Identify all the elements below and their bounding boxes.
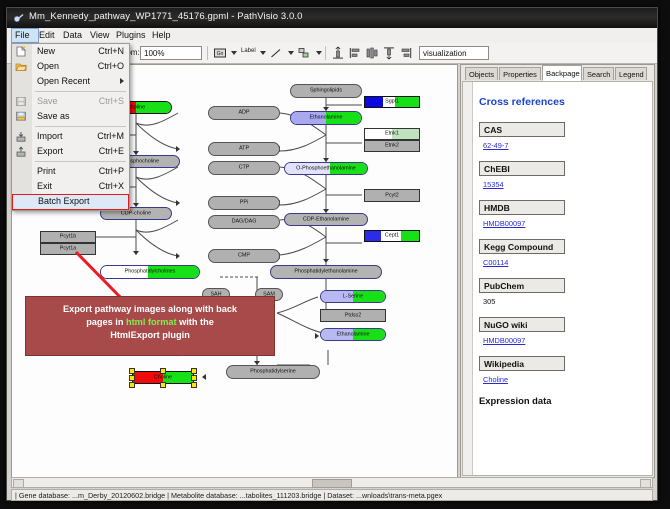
- menu-item-save-label: Save: [37, 96, 58, 106]
- node-ppi[interactable]: PPi: [208, 196, 280, 210]
- scroll-left-button[interactable]: [13, 479, 24, 488]
- scroll-thumb[interactable]: [312, 479, 352, 488]
- menu-item-exit-label: Exit: [37, 181, 52, 191]
- menu-item-export-label: Export: [37, 146, 63, 156]
- menu-item-exit[interactable]: Exit Ctrl+X: [12, 179, 129, 194]
- node-ptdss2[interactable]: Ptdss2: [320, 309, 386, 322]
- arrow-icon: [315, 333, 319, 339]
- align-left-icon[interactable]: [348, 46, 362, 60]
- backpage-content: Cross references CAS 62-49-7 ChEBI 15354…: [473, 82, 652, 475]
- xref-value-hmdb[interactable]: HMDB00097: [483, 219, 646, 228]
- new-file-icon: [15, 46, 27, 57]
- node-sphingolipids[interactable]: Sphingolipids: [290, 84, 362, 98]
- node-atp[interactable]: ATP: [208, 142, 280, 156]
- title-bar: Mm_Kennedy_pathway_WP1771_45176.gpml - P…: [7, 8, 657, 29]
- application-window: Mm_Kennedy_pathway_WP1771_45176.gpml - P…: [6, 7, 658, 501]
- side-panel: Objects Properties Backpage Search Legen…: [460, 64, 655, 478]
- xref-value-kegg-compound[interactable]: C00114: [483, 258, 646, 267]
- import-icon: [15, 131, 27, 142]
- menu-item-batch-export[interactable]: Batch Export: [12, 194, 129, 210]
- expression-data-heading: Expression data: [479, 395, 646, 406]
- tab-objects[interactable]: Objects: [465, 67, 498, 80]
- menu-item-exit-accel: Ctrl+X: [99, 179, 124, 194]
- node-ethanolamine-top[interactable]: Ethanolamine: [290, 111, 362, 125]
- label-tool-label[interactable]: Label: [241, 48, 256, 54]
- menu-item-save-accel: Ctrl+S: [99, 94, 124, 109]
- save-disk-icon: [15, 96, 27, 107]
- resize-handle[interactable]: [129, 382, 135, 388]
- node-etnk2[interactable]: Etnk2: [364, 140, 420, 152]
- shape-tool-icon[interactable]: [297, 46, 311, 60]
- menu-item-open-recent-label: Open Recent: [37, 76, 90, 86]
- xref-name-kegg-compound: Kegg Compound: [479, 239, 565, 254]
- arrow-icon: [176, 146, 180, 152]
- arrow-icon: [176, 200, 180, 206]
- geneproduct-tool-icon[interactable]: Gn: [213, 46, 227, 60]
- menu-item-export-accel: Ctrl+E: [99, 144, 124, 159]
- align-horizontal-center-icon[interactable]: [365, 46, 379, 60]
- menu-edit[interactable]: Edit: [35, 29, 59, 42]
- menu-item-batch-export-label: Batch Export: [38, 196, 90, 206]
- node-ethanolamine-bottom[interactable]: Ethanolamine: [320, 328, 386, 341]
- annotation-line3: HtmlExport plugin: [110, 330, 190, 340]
- menu-item-import-accel: Ctrl+M: [97, 129, 124, 144]
- menu-separator: [35, 161, 126, 162]
- resize-handle[interactable]: [160, 382, 166, 388]
- menu-separator: [35, 91, 126, 92]
- menu-view[interactable]: View: [86, 29, 113, 42]
- node-pcyt2[interactable]: Pcyt2: [364, 189, 420, 202]
- shape-dropdown-icon[interactable]: [316, 51, 322, 55]
- xref-value-nugo-wiki[interactable]: HMDB00097: [483, 336, 646, 345]
- tab-legend[interactable]: Legend: [615, 67, 647, 80]
- menu-item-open-label: Open: [37, 61, 59, 71]
- menu-bar: File Edit Data View Plugins Help: [7, 28, 657, 44]
- resize-handle[interactable]: [129, 368, 135, 374]
- annotation-line2-post: with the: [177, 317, 214, 327]
- menu-item-print[interactable]: Print Ctrl+P: [12, 164, 129, 179]
- resize-handle[interactable]: [191, 368, 197, 374]
- menu-item-open[interactable]: Open Ctrl+O: [12, 59, 129, 74]
- menu-item-new-label: New: [37, 46, 55, 56]
- menu-item-save-as-label: Save as: [37, 111, 70, 121]
- node-etnk1[interactable]: Etnk1: [364, 128, 420, 140]
- xref-name-hmdb: HMDB: [479, 200, 565, 215]
- export-icon: [15, 146, 27, 157]
- xref-value-pubchem: 305: [483, 297, 646, 306]
- menu-help[interactable]: Help: [148, 29, 175, 42]
- xref-name-pubchem: PubChem: [479, 278, 565, 293]
- xref-name-wikipedia: Wikipedia: [479, 356, 565, 371]
- node-ctp[interactable]: CTP: [208, 161, 280, 175]
- line-dropdown-icon[interactable]: [288, 51, 294, 55]
- node-o-phosphoethanolamine[interactable]: O-Phosphoethanolamine: [284, 162, 368, 175]
- node-pcyt1b[interactable]: Pcyt1b: [40, 231, 96, 243]
- window-title: Mm_Kennedy_pathway_WP1771_45176.gpml - P…: [29, 11, 303, 22]
- horizontal-scrollbar[interactable]: [11, 477, 653, 488]
- tab-properties[interactable]: Properties: [499, 67, 541, 80]
- screenshot-root: Mm_Kennedy_pathway_WP1771_45176.gpml - P…: [0, 0, 670, 509]
- menu-item-print-accel: Ctrl+P: [99, 164, 124, 179]
- xref-name-chebi: ChEBI: [479, 161, 565, 176]
- open-folder-icon: [15, 61, 27, 72]
- node-cdp-ethanolamine[interactable]: CDP-Ethanolamine: [284, 213, 368, 226]
- status-bar-text: | Gene database: ...m_Derby_20120602.bri…: [15, 491, 442, 500]
- node-cept1[interactable]: Cept1: [364, 230, 420, 242]
- save-as-icon: [15, 111, 27, 122]
- node-adp[interactable]: ADP: [208, 106, 280, 120]
- menu-item-save: Save Ctrl+S: [12, 94, 129, 109]
- line-tool-icon[interactable]: [269, 46, 283, 60]
- submenu-arrow-icon: [120, 78, 124, 84]
- align-top-icon[interactable]: [331, 46, 345, 60]
- menu-item-import[interactable]: Import Ctrl+M: [12, 129, 129, 144]
- arrow-icon: [202, 374, 206, 380]
- annotation-text: Export pathway images along with back pa…: [31, 303, 269, 342]
- tab-search[interactable]: Search: [583, 67, 614, 80]
- xref-value-wikipedia[interactable]: Choline: [483, 375, 646, 384]
- node-choline-selected[interactable]: Choline: [132, 371, 194, 384]
- menu-item-open-recent[interactable]: Open Recent: [12, 74, 129, 89]
- status-bar: | Gene database: ...m_Derby_20120602.bri…: [11, 489, 653, 501]
- menu-item-save-as[interactable]: Save as: [12, 109, 129, 124]
- node-sgpl1[interactable]: Sgpl1: [364, 96, 420, 108]
- backpage-panel: Cross references CAS 62-49-7 ChEBI 15354…: [462, 81, 653, 476]
- file-menu-popup: New Ctrl+N Open Ctrl+O Open Recent Save …: [11, 43, 130, 211]
- xref-name-nugo-wiki: NuGO wiki: [479, 317, 565, 332]
- backpage-scrollbar[interactable]: [463, 82, 473, 475]
- annotation-line2-pre: pages in: [86, 317, 126, 327]
- arrow-icon: [323, 259, 329, 263]
- side-panel-tabstrip: Objects Properties Backpage Search Legen…: [461, 65, 654, 81]
- tab-backpage[interactable]: Backpage: [542, 65, 582, 81]
- node-dag-dag[interactable]: DAG/DAG: [208, 215, 280, 229]
- menu-item-export[interactable]: Export Ctrl+E: [12, 144, 129, 159]
- xref-value-cas[interactable]: 62-49-7: [483, 141, 646, 150]
- node-phosphatidylserine[interactable]: Phosphatidylserine: [226, 365, 320, 379]
- menu-data[interactable]: Data: [59, 29, 86, 42]
- scroll-right-button[interactable]: [640, 479, 651, 488]
- resize-handle[interactable]: [191, 382, 197, 388]
- menu-item-open-accel: Ctrl+O: [98, 59, 124, 74]
- menu-item-new[interactable]: New Ctrl+N: [12, 44, 129, 59]
- visualization-combo[interactable]: visualization: [419, 46, 489, 60]
- xref-value-chebi[interactable]: 15354: [483, 180, 646, 189]
- xref-name-cas: CAS: [479, 122, 565, 137]
- pathvisio-app-icon: [13, 12, 25, 24]
- align-right-icon[interactable]: [399, 46, 413, 60]
- svg-text:Gn: Gn: [217, 51, 224, 57]
- zoom-combo[interactable]: 100%: [140, 46, 202, 60]
- menu-item-print-label: Print: [37, 166, 56, 176]
- label-dropdown-icon[interactable]: [260, 51, 266, 55]
- cross-references-heading: Cross references: [479, 96, 646, 108]
- menu-item-import-label: Import: [37, 131, 63, 141]
- annotation-line1: Export pathway images along with back: [63, 304, 237, 314]
- annotation-banner: Export pathway images along with back pa…: [25, 296, 275, 356]
- node-l-serine[interactable]: L-Serine: [320, 290, 386, 303]
- menu-plugins[interactable]: Plugins: [112, 29, 150, 42]
- menu-separator: [35, 126, 126, 127]
- annotation-line2-highlight: html format: [126, 317, 177, 327]
- node-phosphatidylethanolamine[interactable]: Phosphatidylethanolamine: [270, 265, 382, 279]
- align-bottom-icon[interactable]: [382, 46, 396, 60]
- menu-item-new-accel: Ctrl+N: [98, 44, 124, 59]
- node-cmp[interactable]: CMP: [208, 249, 280, 263]
- geneproduct-dropdown-icon[interactable]: [231, 51, 237, 55]
